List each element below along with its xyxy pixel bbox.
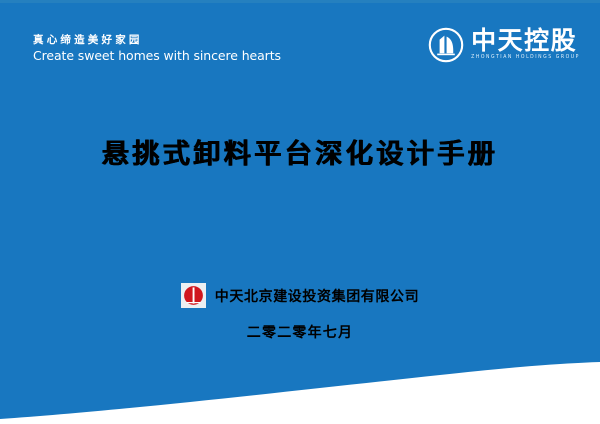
- slide-footer: 中天北京建设投资集团有限公司 二零二零年七月: [0, 283, 600, 342]
- brand-name-english: ZHONGTIAN HOLDINGS GROUP: [471, 54, 580, 62]
- page-title: 悬挑式卸料平台深化设计手册: [0, 132, 600, 171]
- tagline-english: Create sweet homes with sincere hearts: [33, 48, 281, 63]
- title-slide: 真心缔造美好家园 Create sweet homes with sincere…: [0, 0, 600, 424]
- zhongtian-red-circle-logo-icon: [181, 283, 206, 308]
- publication-date: 二零二零年七月: [0, 322, 600, 342]
- brand-name-chinese: 中天控股: [471, 28, 577, 54]
- brand-lockup: 中天控股 ZHONGTIAN HOLDINGS GROUP: [428, 27, 580, 63]
- tagline-chinese: 真心缔造美好家园: [33, 34, 281, 47]
- zhongtian-circle-logo-icon: [428, 27, 464, 63]
- brand-text: 中天控股 ZHONGTIAN HOLDINGS GROUP: [471, 28, 580, 62]
- slide-header: 真心缔造美好家园 Create sweet homes with sincere…: [0, 0, 600, 80]
- organization-row: 中天北京建设投资集团有限公司: [0, 283, 600, 308]
- company-tagline: 真心缔造美好家园 Create sweet homes with sincere…: [33, 34, 281, 63]
- organization-name: 中天北京建设投资集团有限公司: [215, 286, 419, 306]
